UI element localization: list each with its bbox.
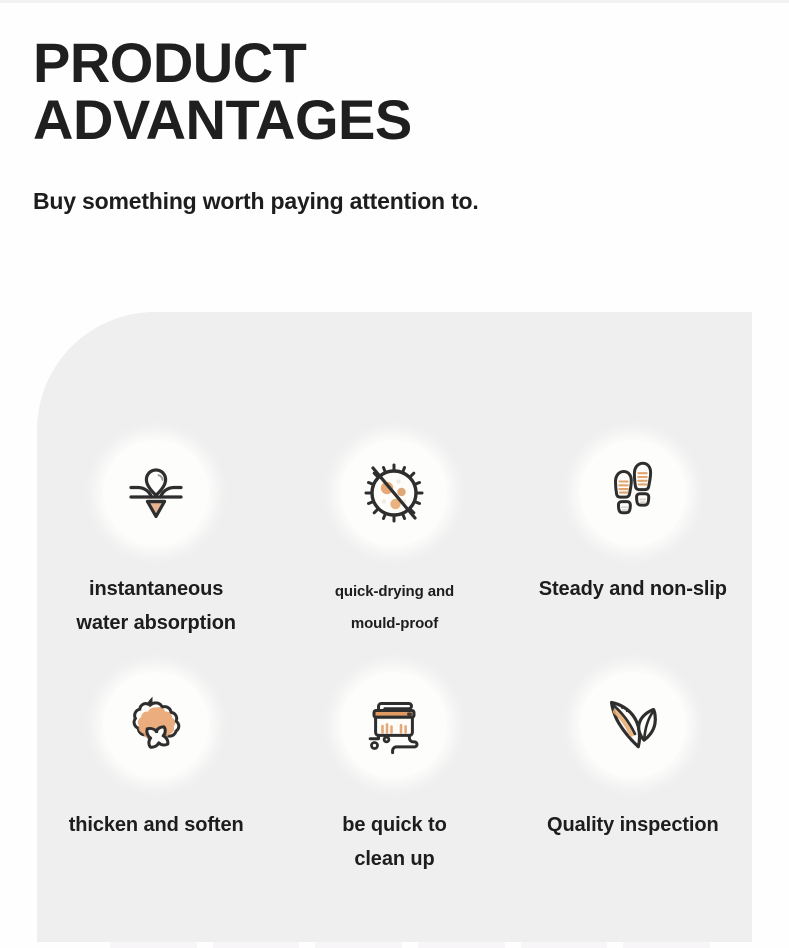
peek-segment <box>110 942 197 948</box>
water-absorption-icon <box>103 440 209 546</box>
leaves-icon <box>580 672 686 778</box>
advantage-label: thicken and soften <box>69 808 244 842</box>
advantage-item-non-slip: Steady and non-slip <box>514 440 752 672</box>
advantage-item-easy-clean: be quick to clean up <box>275 672 513 904</box>
anti-mould-icon <box>341 440 447 546</box>
advantage-label: be quick to clean up <box>342 808 446 877</box>
advantage-item-quality-inspection: Quality inspection <box>514 672 752 904</box>
advantage-item-thicken-soften: thicken and soften <box>37 672 275 904</box>
page-title: PRODUCT ADVANTAGES <box>33 34 733 148</box>
cotton-boll-icon <box>103 672 209 778</box>
peek-segment <box>315 942 402 948</box>
top-divider <box>0 0 789 3</box>
advantages-grid: instantaneous water absorption <box>37 440 752 904</box>
advantage-label: Steady and non-slip <box>539 572 727 606</box>
peek-segment <box>623 942 710 948</box>
advantage-item-water-absorption: instantaneous water absorption <box>37 440 275 672</box>
advantage-label: instantaneous water absorption <box>76 572 236 641</box>
peek-segment <box>521 942 608 948</box>
page-title-line-2: ADVANTAGES <box>33 91 733 148</box>
washing-machine-icon <box>341 672 447 778</box>
advantage-label: Quality inspection <box>547 808 719 842</box>
product-advantages-page: PRODUCT ADVANTAGES Buy something worth p… <box>0 0 789 948</box>
heading-block: PRODUCT ADVANTAGES Buy something worth p… <box>33 34 733 216</box>
advantage-item-quick-drying: quick-drying and mould-proof <box>275 440 513 672</box>
page-subtitle: Buy something worth paying attention to. <box>33 148 733 216</box>
page-title-line-1: PRODUCT <box>33 34 733 91</box>
peek-segment <box>418 942 505 948</box>
peek-segment <box>213 942 300 948</box>
advantage-label: quick-drying and mould-proof <box>335 576 454 639</box>
next-section-peek <box>110 942 710 948</box>
footprints-icon <box>580 440 686 546</box>
